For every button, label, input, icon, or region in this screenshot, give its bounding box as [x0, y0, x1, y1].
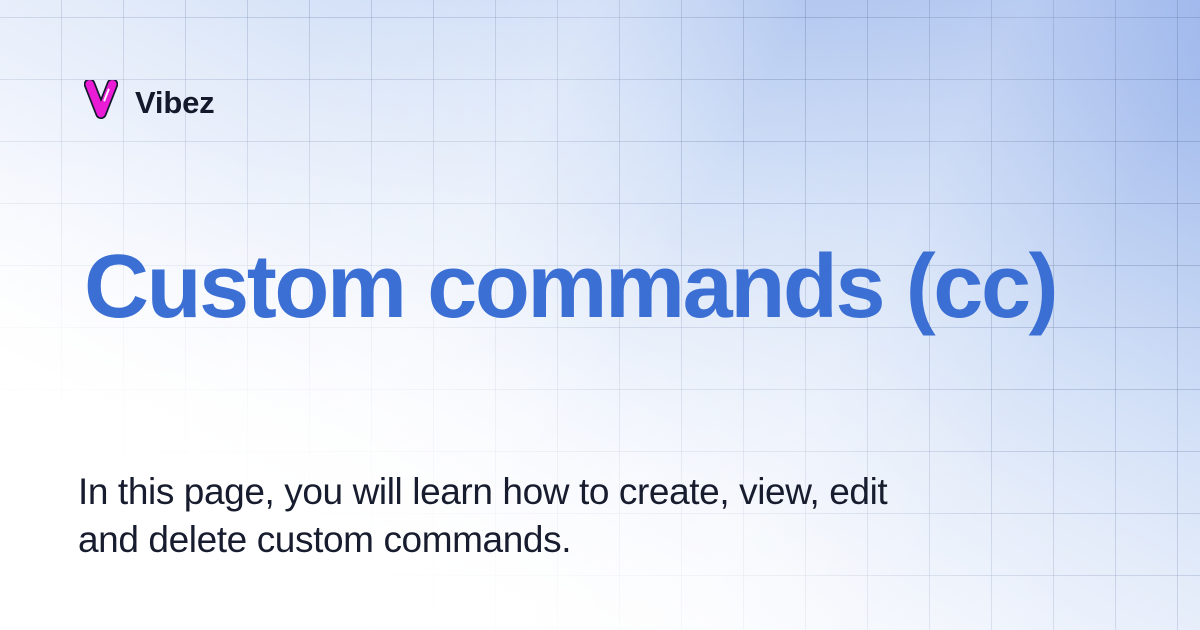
- brand-lockup: Vibez: [84, 80, 214, 124]
- page-title: Custom commands (cc): [84, 243, 1084, 331]
- brand-name: Vibez: [135, 87, 214, 118]
- card-content: Vibez Custom commands (cc) In this page,…: [0, 0, 1200, 630]
- og-card: Vibez Custom commands (cc) In this page,…: [0, 0, 1200, 630]
- page-subtitle: In this page, you will learn how to crea…: [78, 468, 918, 564]
- vibez-v-logo-icon: [84, 80, 118, 124]
